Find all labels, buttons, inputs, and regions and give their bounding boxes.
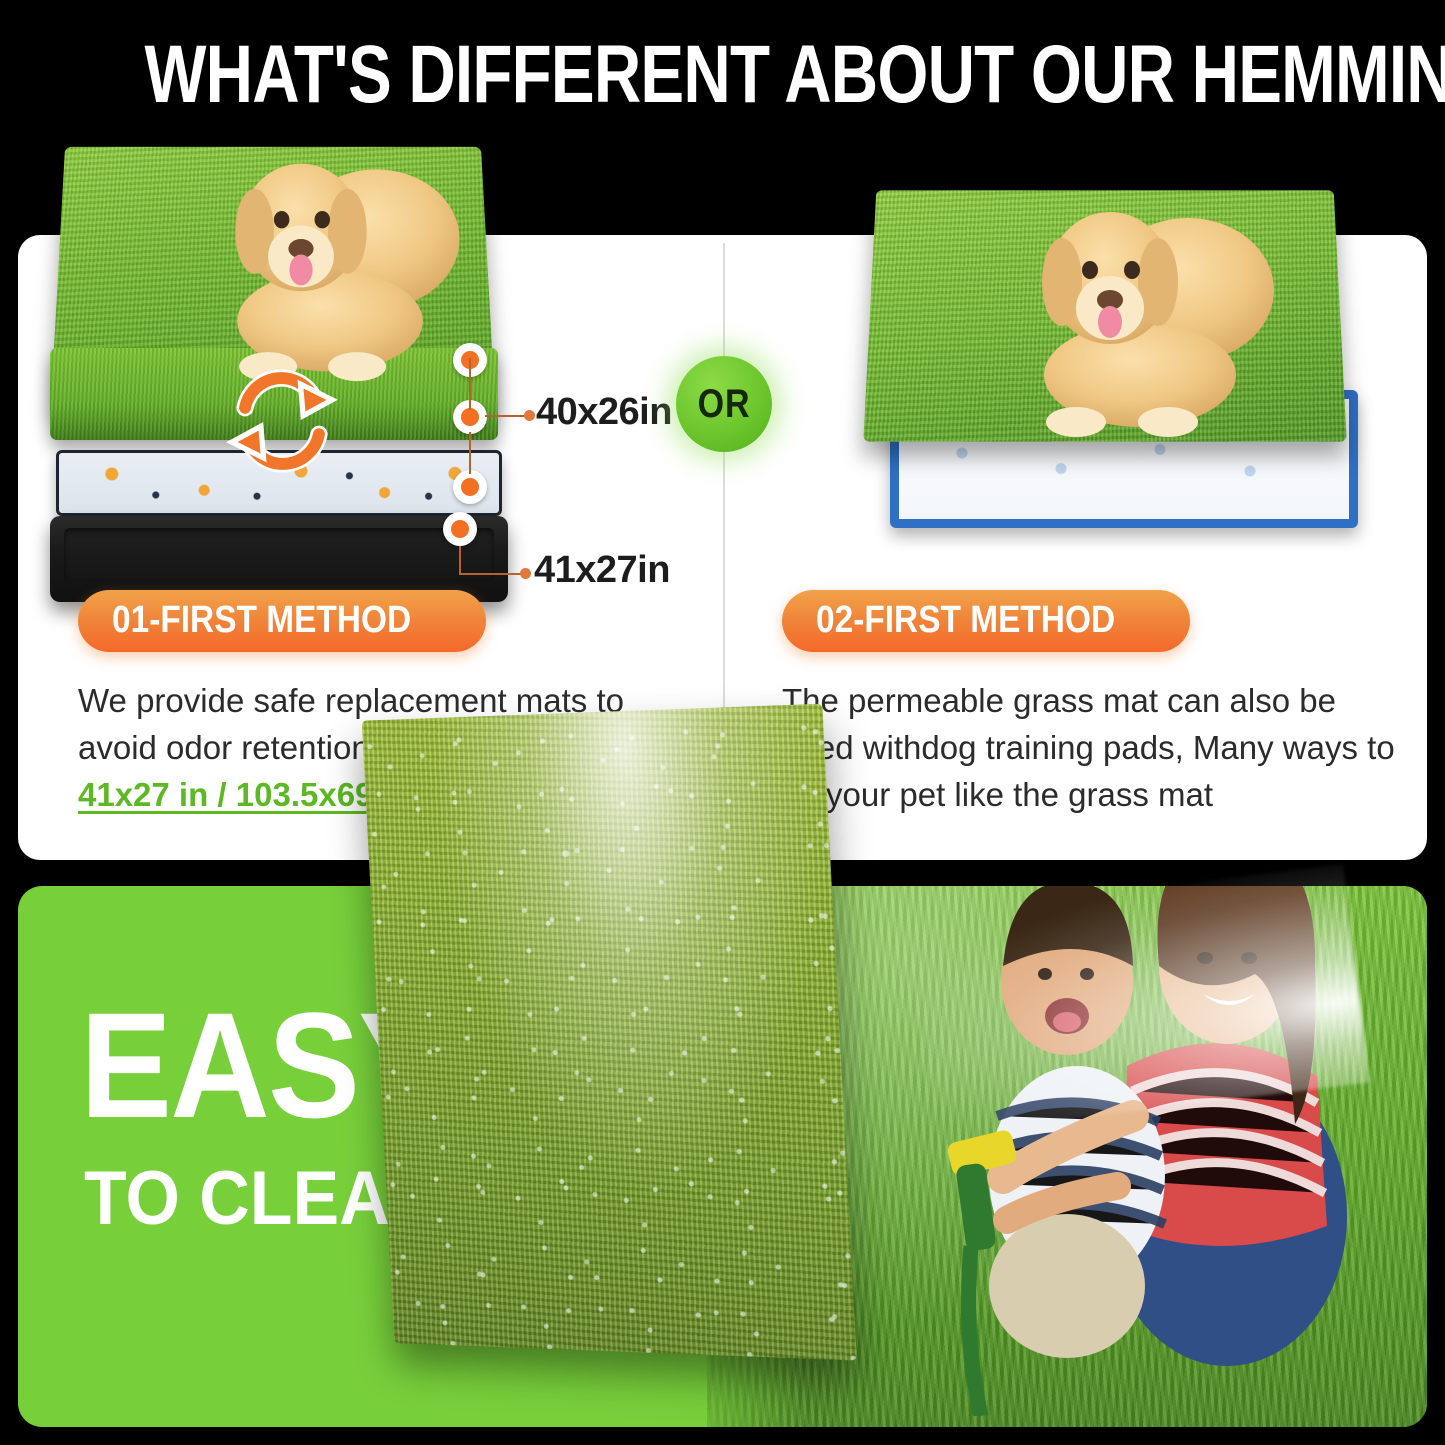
callout-lead-horizontal xyxy=(485,415,529,417)
method-text-02: The permeable grass mat can also be used… xyxy=(782,678,1402,819)
method-badge-02-label: 02-FIRST METHOD xyxy=(816,601,1115,639)
callout-label-tray: 41x27in xyxy=(534,549,670,592)
grass-mat-over-pad-illustration xyxy=(860,150,1380,530)
callout-dot-pad xyxy=(453,470,487,504)
wet-grass-mat xyxy=(362,704,857,1361)
callout-lead-endpoint-2 xyxy=(520,568,531,579)
callout-dot-tray xyxy=(443,512,477,546)
callout-label-mat: 40x26in xyxy=(536,391,672,434)
callout-lead-horizontal-2 xyxy=(459,573,523,575)
callout-lead-vertical xyxy=(469,358,471,410)
page-title: WHAT'S DIFFERENT ABOUT OUR HEMMING GRASS… xyxy=(145,34,1301,116)
method-block-02: 02-FIRST METHOD The permeable grass mat … xyxy=(782,590,1402,819)
method-text-02-before: The permeable grass mat can also be used… xyxy=(782,682,1395,813)
method-badge-01-label: 01-FIRST METHOD xyxy=(112,601,411,639)
woman-and-child-hose-icon xyxy=(927,886,1397,1416)
infographic-root: WHAT'S DIFFERENT ABOUT OUR HEMMING GRASS… xyxy=(0,0,1445,1445)
or-badge: OR xyxy=(676,356,772,452)
or-badge-label: OR xyxy=(698,382,751,427)
method-badge-01: 01-FIRST METHOD xyxy=(78,590,486,652)
callout-lead-endpoint xyxy=(524,410,535,421)
golden-retriever-icon xyxy=(990,170,1290,470)
water-droplets xyxy=(362,704,857,1361)
method-badge-02: 02-FIRST METHOD xyxy=(782,590,1190,652)
swap-arrows-icon xyxy=(216,355,348,487)
callout-lead-vertical-2 xyxy=(469,432,471,474)
callout-lead-vertical-3 xyxy=(459,546,461,574)
